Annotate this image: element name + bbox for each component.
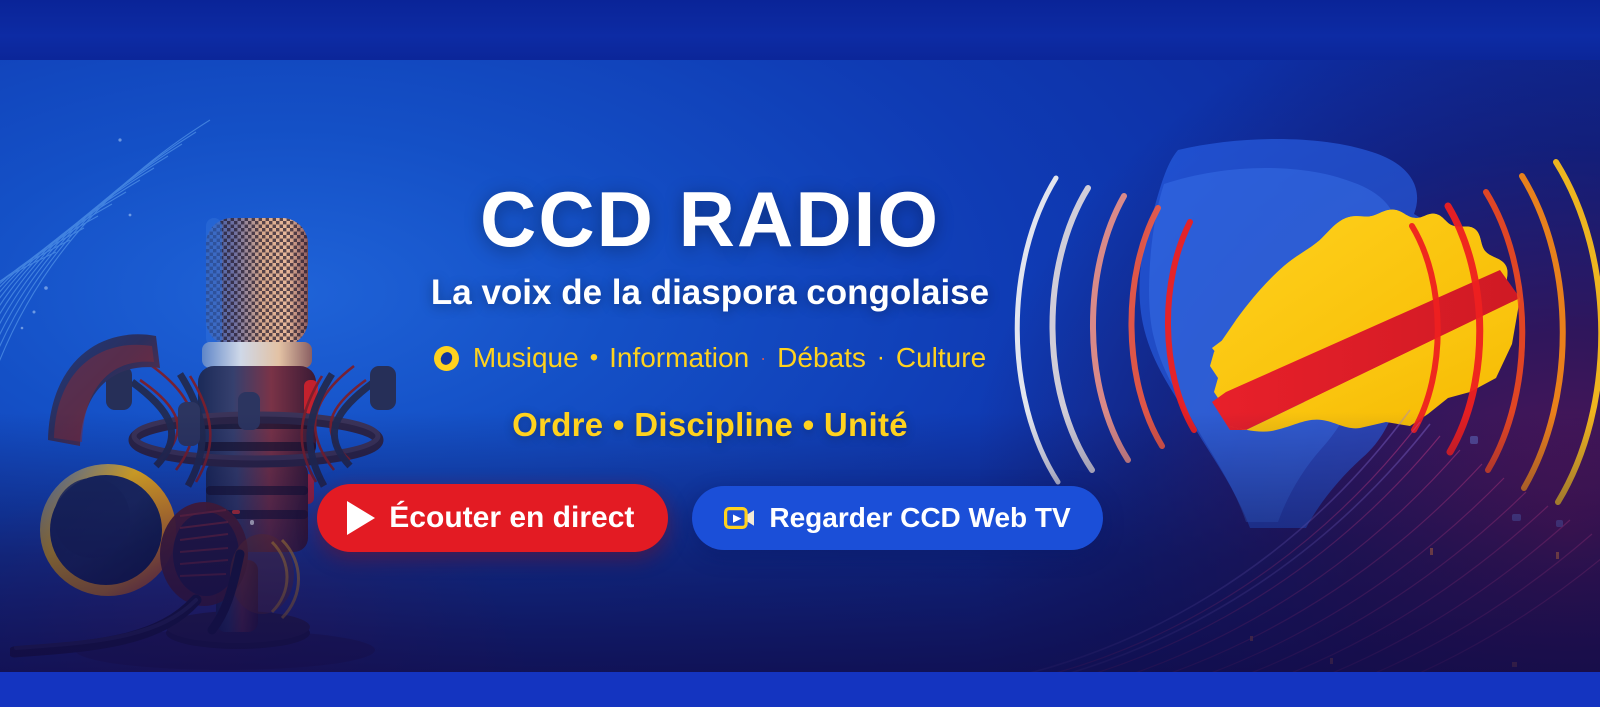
topic-culture: Culture bbox=[896, 342, 986, 374]
topics-list: Musique • Information · Débats · Culture bbox=[434, 342, 986, 374]
page-strip-top bbox=[0, 0, 1600, 60]
topic-musique: Musique bbox=[473, 342, 579, 374]
banner-content: CCD RADIO La voix de la diaspora congola… bbox=[330, 60, 1090, 672]
topic-separator: • bbox=[590, 346, 598, 370]
topic-separator: · bbox=[877, 346, 885, 370]
listen-live-label: Écouter en direct bbox=[389, 501, 634, 535]
music-disc-icon bbox=[434, 346, 459, 371]
listen-live-button[interactable]: Écouter en direct bbox=[317, 484, 668, 552]
page-strip-bottom bbox=[0, 672, 1600, 707]
topic-separator: · bbox=[760, 349, 766, 367]
screen: CCD RADIO La voix de la diaspora congola… bbox=[0, 0, 1600, 707]
page-title: CCD RADIO bbox=[480, 180, 940, 258]
watch-web-tv-label: Regarder CCD Web TV bbox=[769, 502, 1070, 534]
cta-row: Écouter en direct Regarder CCD Web TV bbox=[317, 484, 1102, 552]
video-tv-icon bbox=[724, 505, 755, 531]
topic-debats: Débats bbox=[777, 342, 866, 374]
motto: Ordre • Discipline • Unité bbox=[512, 406, 908, 444]
brand-tagline: La voix de la diaspora congolaise bbox=[431, 274, 989, 313]
watch-web-tv-button[interactable]: Regarder CCD Web TV bbox=[692, 486, 1102, 550]
play-icon bbox=[347, 501, 375, 535]
topic-information: Information bbox=[609, 342, 749, 374]
